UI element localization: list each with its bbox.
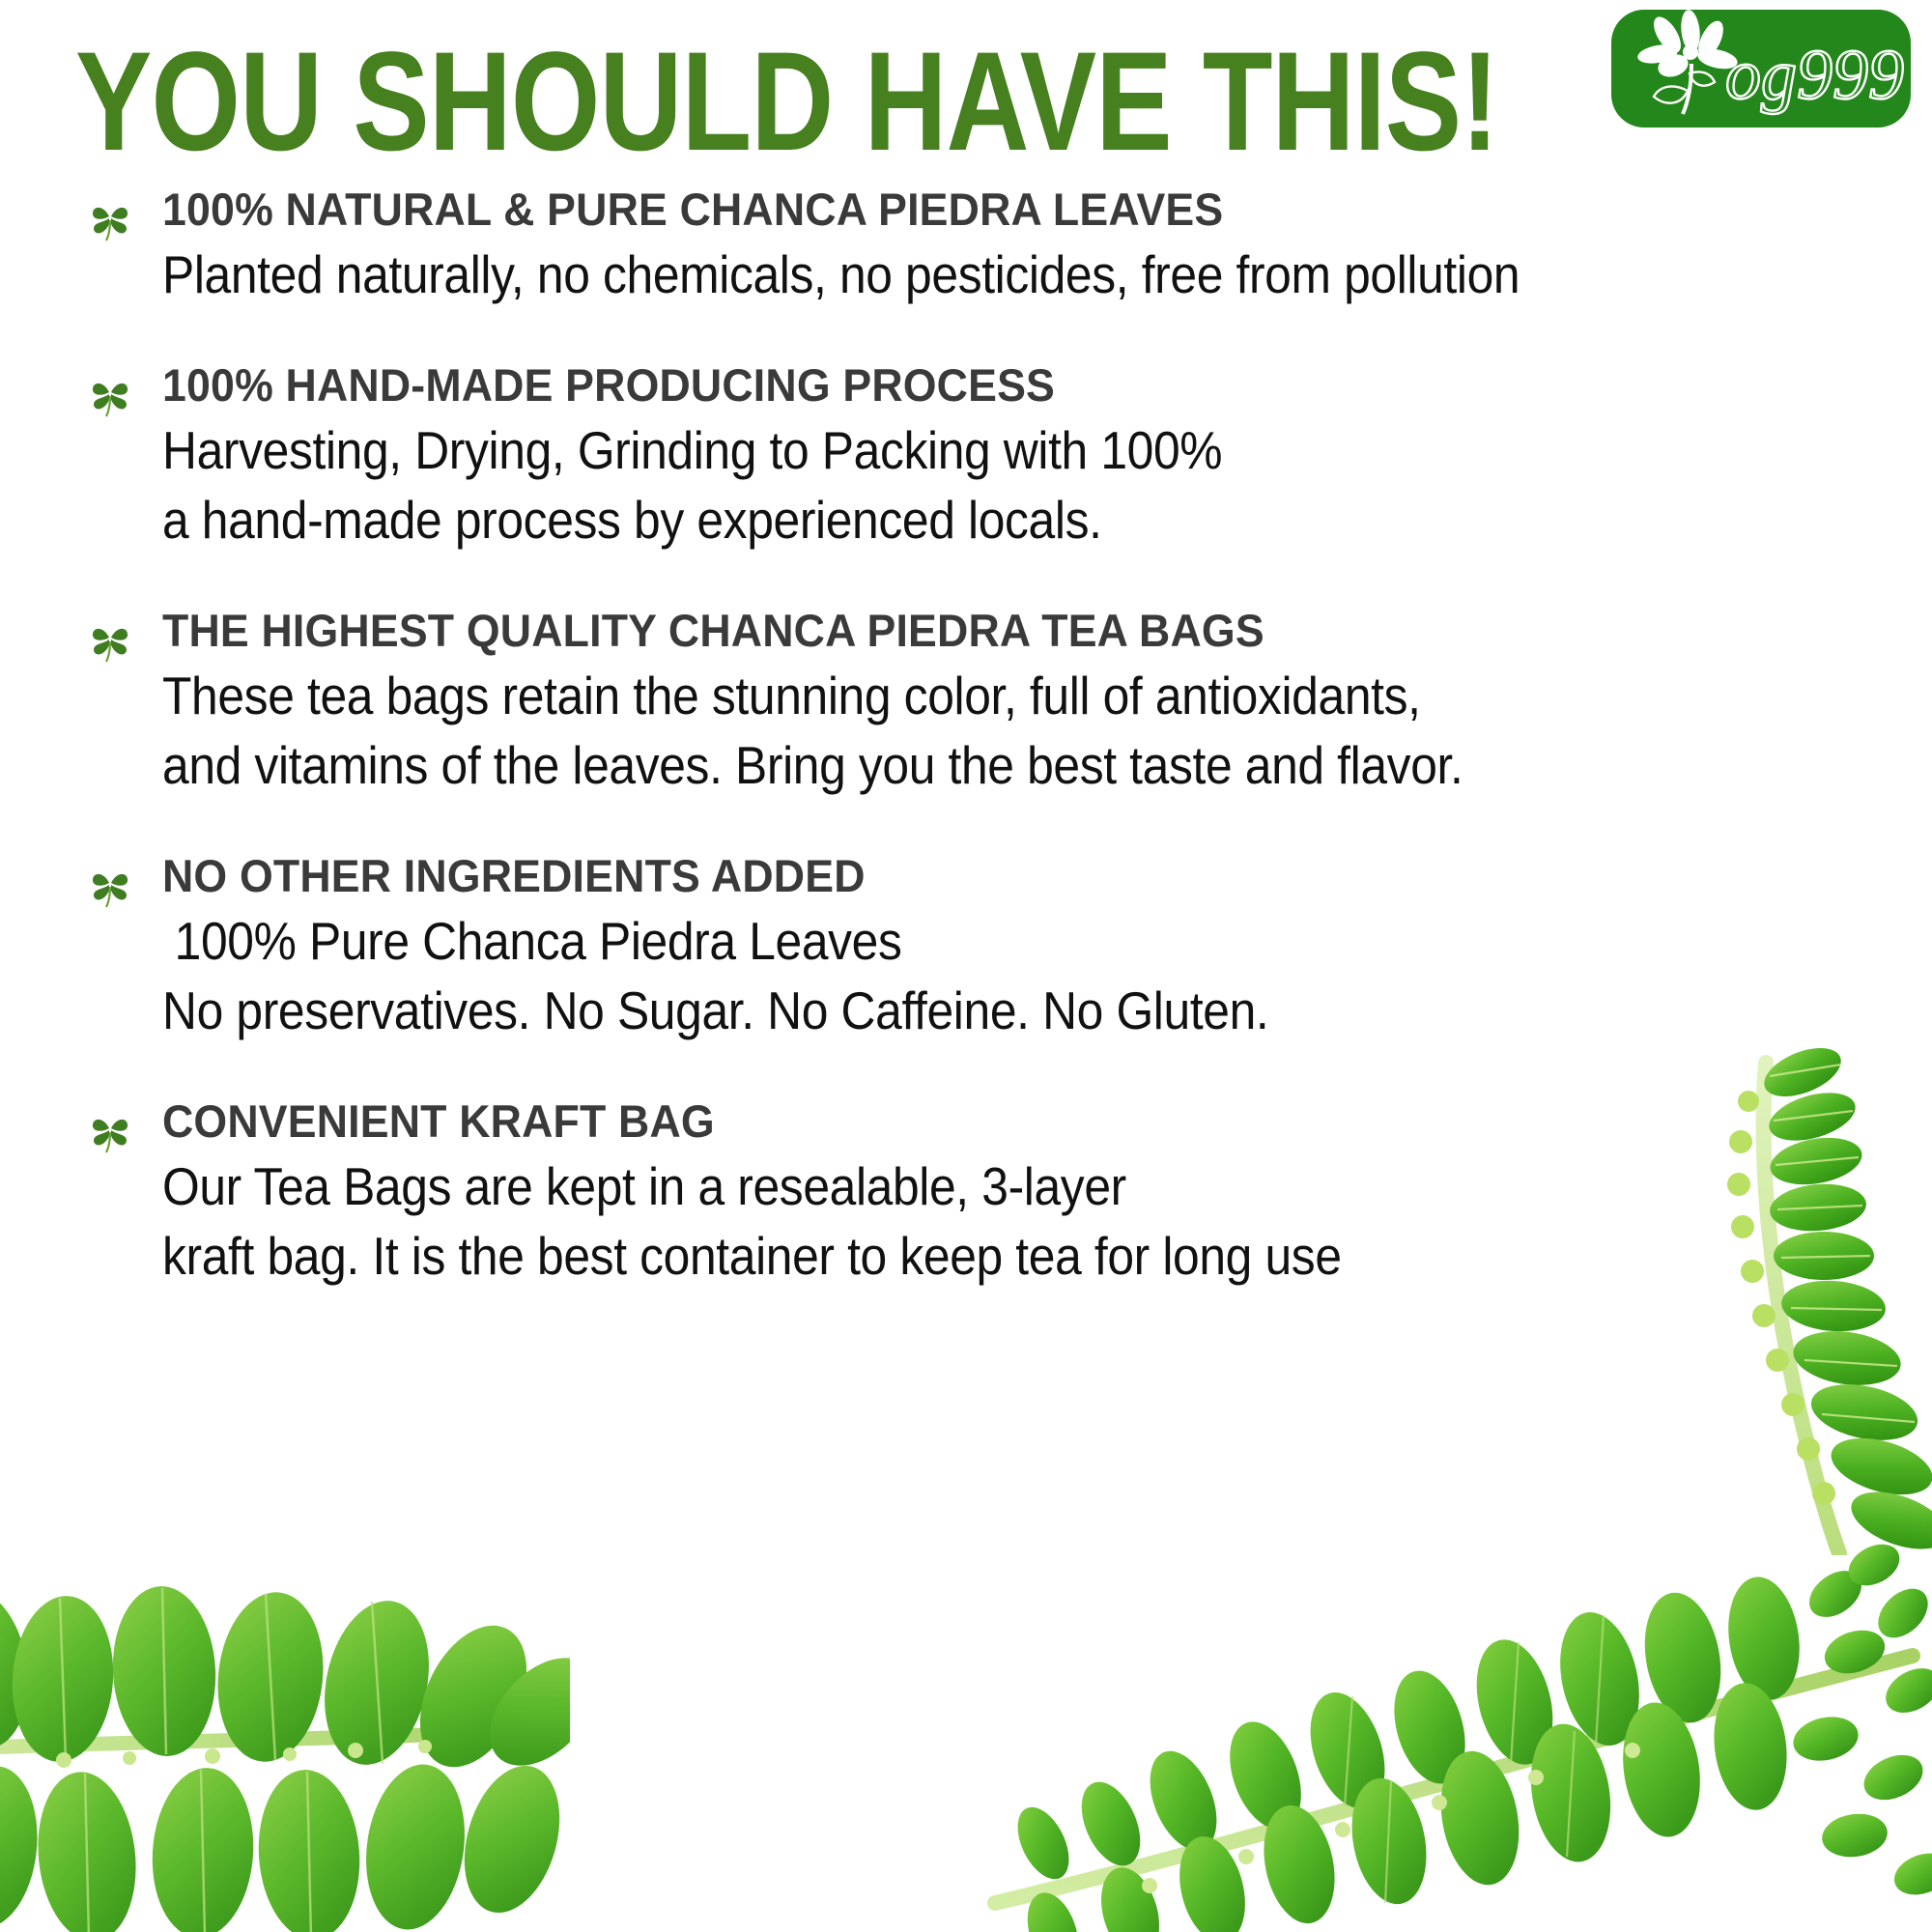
stem-icon bbox=[995, 1656, 1913, 1903]
leaf-cluster-icon bbox=[1789, 1536, 1932, 1902]
header: YOU SHOULD HAVE THIS! bbox=[0, 0, 1932, 179]
feature-line: and vitamins of the leaves. Bring you th… bbox=[162, 730, 1764, 800]
feature-line: a hand-made process by experienced local… bbox=[162, 485, 1764, 554]
four-leaf-clover-icon bbox=[90, 1111, 130, 1153]
four-leaf-clover-icon bbox=[90, 866, 130, 908]
feature-title: CONVENIENT KRAFT BAG bbox=[162, 1092, 1843, 1151]
stem-icon bbox=[0, 1729, 551, 1748]
bud-icon bbox=[1142, 1743, 1640, 1893]
feature-title: 100% NATURAL & PURE CHANCA PIEDRA LEAVES bbox=[162, 180, 1843, 240]
logo-artwork: og999 bbox=[1611, 10, 1911, 128]
feature-list: 100% NATURAL & PURE CHANCA PIEDRA LEAVES… bbox=[0, 180, 1932, 1337]
feature-line: No preservatives. No Sugar. No Caffeine.… bbox=[162, 976, 1764, 1045]
chanca-piedra-branch-bottom-left bbox=[0, 1507, 570, 1932]
logo-wordmark: og999 bbox=[1725, 36, 1904, 115]
four-leaf-clover-icon bbox=[90, 199, 130, 241]
feature-title: NO OTHER INGREDIENTS ADDED bbox=[162, 846, 1843, 906]
four-leaf-clover-icon bbox=[90, 375, 130, 417]
leaf-icon bbox=[0, 1754, 570, 1932]
feature-title: THE HIGHEST QUALITY CHANCA PIEDRA TEA BA… bbox=[162, 601, 1843, 661]
feature-line: Harvesting, Drying, Grinding to Packing … bbox=[162, 415, 1764, 485]
four-leaf-clover-icon bbox=[90, 620, 130, 663]
feature-line: 100% Pure Chanca Piedra Leaves bbox=[162, 906, 1764, 976]
feature-item: THE HIGHEST QUALITY CHANCA PIEDRA TEA BA… bbox=[0, 601, 1932, 800]
infographic-page: YOU SHOULD HAVE THIS! bbox=[0, 0, 1932, 1932]
feature-line: These tea bags retain the stunning color… bbox=[162, 661, 1764, 730]
feature-item: NO OTHER INGREDIENTS ADDED 100% Pure Cha… bbox=[0, 846, 1932, 1045]
feature-item: 100% NATURAL & PURE CHANCA PIEDRA LEAVES… bbox=[0, 180, 1932, 309]
feature-line: Our Tea Bags are kept in a resealable, 3… bbox=[162, 1151, 1764, 1221]
brand-logo: og999 bbox=[1611, 10, 1911, 128]
leaf-vein-icon bbox=[1345, 1615, 1604, 1903]
feature-line: Planted naturally, no chemicals, no pest… bbox=[162, 240, 1764, 309]
feature-line: kraft bag. It is the best container to k… bbox=[162, 1221, 1764, 1291]
chanca-piedra-branch-bottom-right bbox=[985, 1449, 1932, 1932]
page-title: YOU SHOULD HAVE THIS! bbox=[75, 32, 1498, 173]
leaf-icon bbox=[1008, 1573, 1807, 1888]
flower-icon bbox=[1636, 10, 1740, 80]
feature-title: 100% HAND-MADE PRODUCING PROCESS bbox=[162, 355, 1843, 415]
bud-icon bbox=[56, 1740, 432, 1768]
leaf-icon bbox=[1654, 71, 1715, 102]
leaf-vein-icon bbox=[0, 1588, 383, 1932]
leaf-icon bbox=[1018, 1679, 1794, 1932]
leaf-icon bbox=[0, 1583, 570, 1785]
feature-item: 100% HAND-MADE PRODUCING PROCESS Harvest… bbox=[0, 355, 1932, 554]
feature-item: CONVENIENT KRAFT BAG Our Tea Bags are ke… bbox=[0, 1092, 1932, 1291]
